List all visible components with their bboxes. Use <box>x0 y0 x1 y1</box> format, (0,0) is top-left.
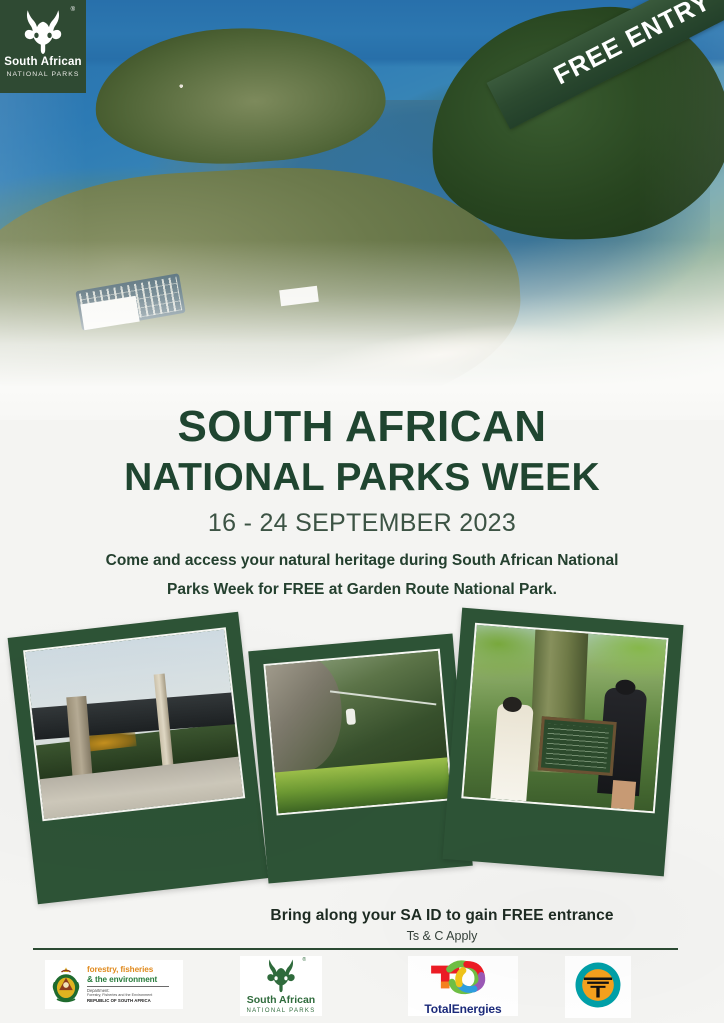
registered-mark-icon-small: ® <box>302 957 306 963</box>
terms-and-conditions-note: Ts & C Apply <box>160 929 724 943</box>
photo-zipline-canopy-tour <box>263 649 453 816</box>
totalenergies-word-1: Total <box>424 1002 451 1016</box>
logo-totalenergies: TotalEnergies <box>408 956 518 1016</box>
visitor-right-leg <box>611 781 636 810</box>
event-description: Come and access your natural heritage du… <box>0 547 724 604</box>
photo-card-zipline <box>248 634 473 884</box>
photo-park-entrance-gate <box>23 627 245 821</box>
photo-card-gallery <box>0 612 724 922</box>
visitor-left-figure <box>490 702 534 801</box>
dffe-line-2: & the environment <box>87 975 169 984</box>
logo-dffe: forestry, fisheries & the environment De… <box>45 960 183 1009</box>
footer-divider <box>33 948 678 950</box>
entry-notice-main: Bring along your SA ID to gain FREE entr… <box>160 907 724 925</box>
badge-subtitle: NATIONAL PARKS <box>6 72 79 79</box>
hero-bottom-fade <box>0 240 724 420</box>
page-title-line-2: NATIONAL PARKS WEEK <box>0 456 724 500</box>
event-description-line-1: Come and access your natural heritage du… <box>42 547 682 576</box>
south-african-coat-of-arms-icon <box>49 965 83 1005</box>
page-title-line-1: SOUTH AFRICAN <box>0 404 724 450</box>
interpretive-sign-board <box>538 716 616 776</box>
logo-fnb <box>565 956 631 1018</box>
fnb-acacia-tree-icon <box>573 960 623 1015</box>
badge-title: South African <box>4 57 82 69</box>
event-description-line-2: Parks Week for FREE at Garden Route Nati… <box>42 576 682 605</box>
logo-sanparks: ® South African NATIONAL PARKS <box>240 956 322 1016</box>
totalenergies-word-2: Energies <box>452 1002 502 1016</box>
photo-visitors-reading-sign <box>461 623 668 814</box>
dffe-line-1: forestry, fisheries <box>87 965 169 974</box>
event-dates: 16 - 24 SEPTEMBER 2023 <box>0 509 724 538</box>
dffe-rule <box>87 986 169 987</box>
sanparks-logo-title: South African <box>247 994 315 1006</box>
zipline-rider <box>346 709 356 726</box>
poster-root: ® South African NATIONAL PARKS FREE ENTR… <box>0 0 724 1023</box>
dffe-country-label: REPUBLIC OF SOUTH AFRICA <box>87 998 169 1004</box>
totalenergies-mark-icon <box>426 957 500 1000</box>
sponsor-logo-strip: forestry, fisheries & the environment De… <box>0 956 724 1023</box>
entry-notice: Bring along your SA ID to gain FREE entr… <box>0 907 724 943</box>
dffe-wordmark: forestry, fisheries & the environment De… <box>87 965 169 1003</box>
kudu-head-icon-small: ® <box>258 957 304 993</box>
photo-card-trail-sign <box>442 608 683 877</box>
kudu-head-icon <box>14 7 72 55</box>
photo-card-park-entrance-gate <box>8 612 269 905</box>
sanparks-logo-badge: ® South African NATIONAL PARKS <box>0 0 86 93</box>
sanparks-logo-subtitle: NATIONAL PARKS <box>246 1008 315 1014</box>
totalenergies-wordmark: TotalEnergies <box>424 1002 501 1016</box>
title-block: SOUTH AFRICAN NATIONAL PARKS WEEK 16 - 2… <box>0 404 724 604</box>
